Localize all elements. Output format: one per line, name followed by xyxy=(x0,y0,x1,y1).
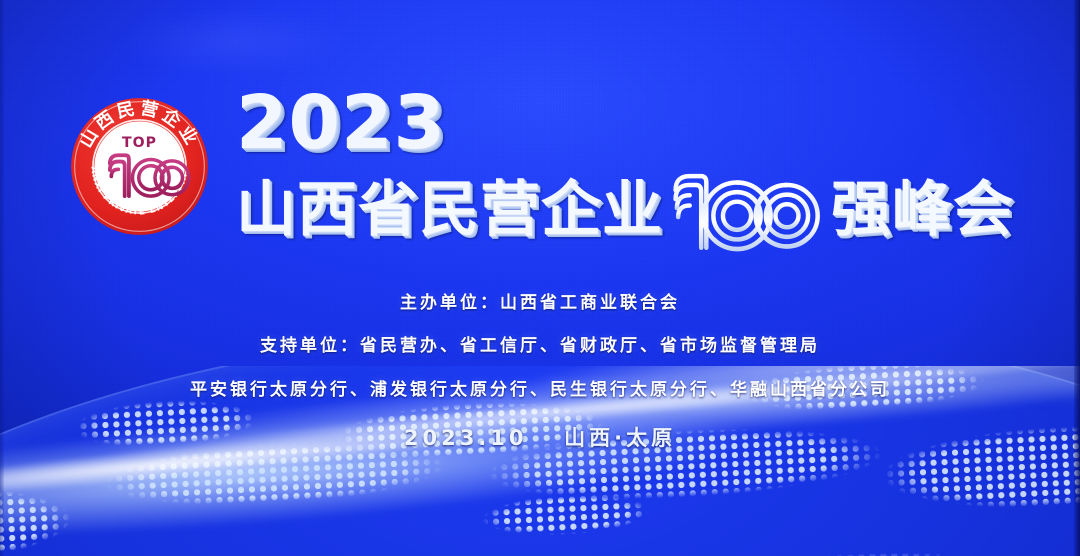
event-date: 2023.10 xyxy=(404,426,528,450)
event-title-row: 山西省民营企业 xyxy=(236,162,1014,258)
content-layer: 山西民营企业 SHANXI PRIVATE ENTERPRISES TOP xyxy=(0,0,1080,556)
date-location-line: 2023.10 山西·太原 xyxy=(0,422,1080,452)
supporters-line: 支持单位：省民营办、省工信厅、省财政厅、省市场监督管理局 xyxy=(0,331,1080,356)
headline-block: 2023 山西省民营企业 xyxy=(236,88,1014,258)
seal-top-label: TOP xyxy=(122,135,157,151)
event-title-part2: 强峰会 xyxy=(831,180,1014,240)
top100-seal-emblem: 山西民营企业 SHANXI PRIVATE ENTERPRISES TOP xyxy=(69,95,210,238)
partners-line: 平安银行太原分行、浦发银行太原分行、民生银行太原分行、华融山西省分公司 xyxy=(0,375,1080,400)
event-location: 山西·太原 xyxy=(564,426,676,450)
event-title-part1: 山西省民营企业 xyxy=(236,180,663,240)
organizer-line: 主办单位：山西省工商业联合会 xyxy=(0,288,1080,313)
event-year: 2023 xyxy=(236,88,1014,159)
backdrop-stage: 山西民营企业 SHANXI PRIVATE ENTERPRISES TOP xyxy=(0,0,1080,556)
credits-block: 主办单位：山西省工商业联合会 支持单位：省民营办、省工信厅、省财政厅、省市场监督… xyxy=(0,288,1080,452)
hundred-logo-mark xyxy=(667,162,825,258)
